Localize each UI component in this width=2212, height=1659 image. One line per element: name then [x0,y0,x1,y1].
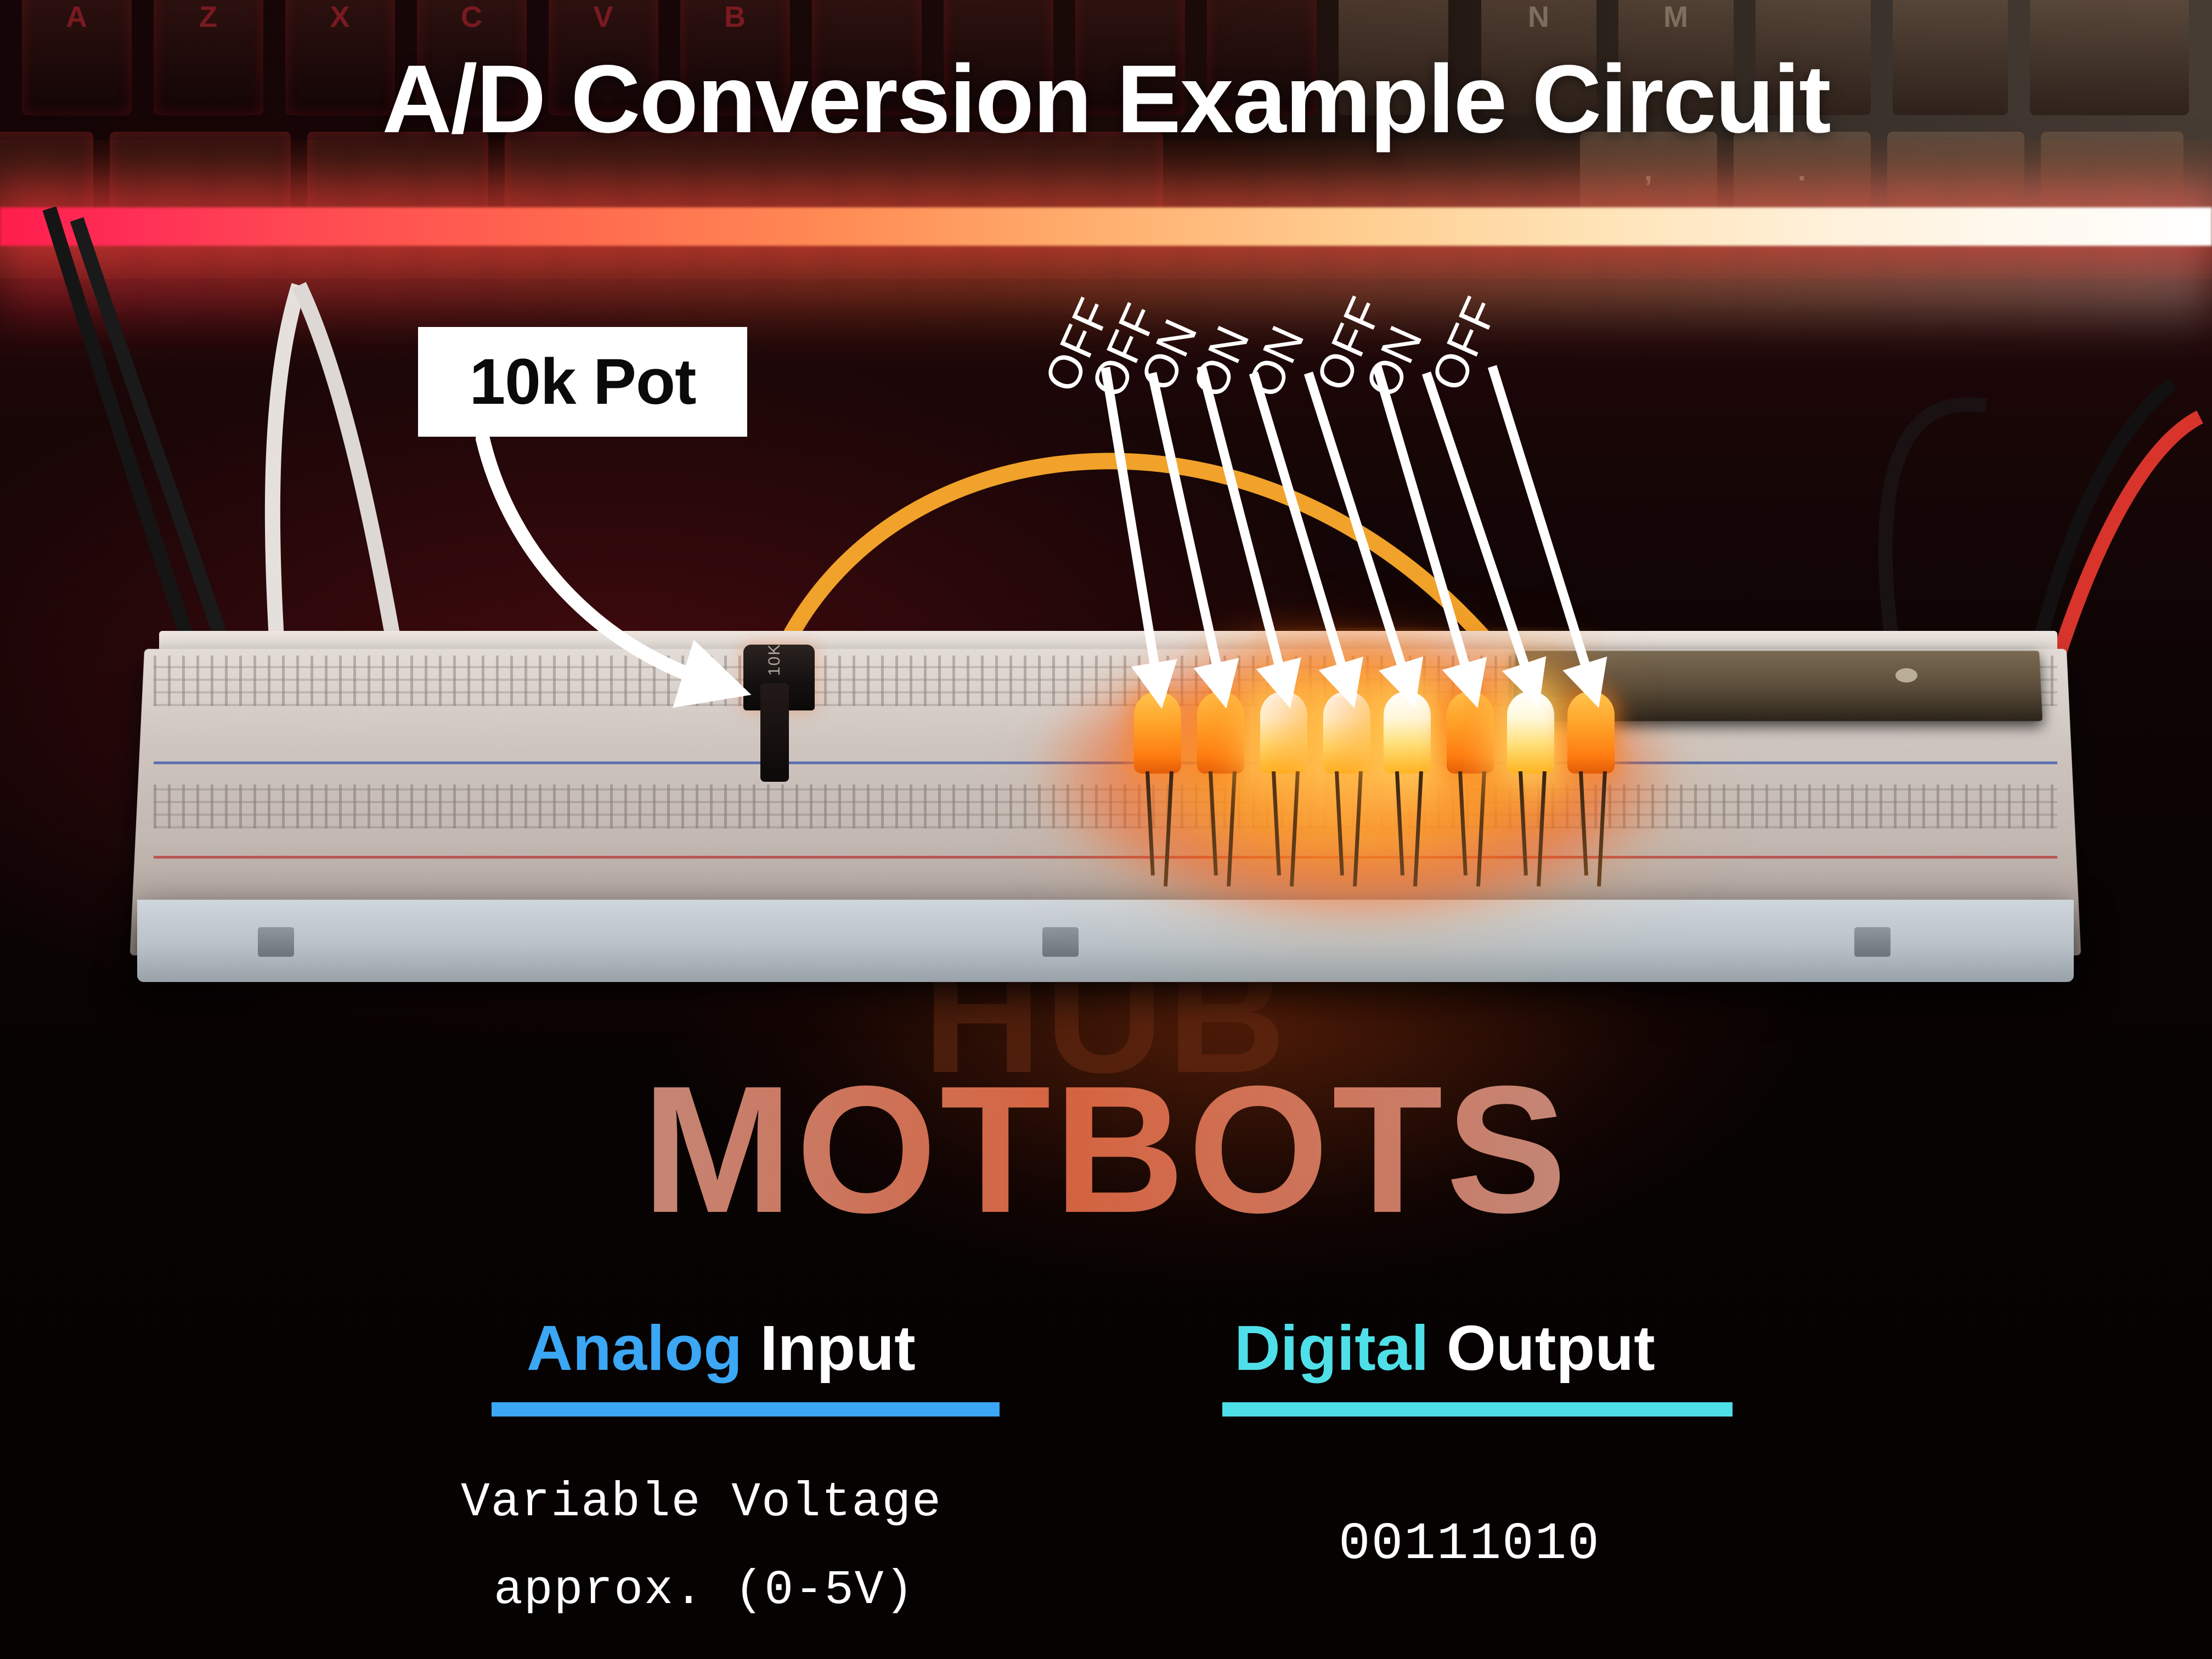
led-state-label-5: ON [1237,318,1316,405]
leader-line-led-4 [1254,373,1347,683]
leader-line-led-7 [1426,373,1531,683]
pot-callout-label: 10k Pot [470,345,696,419]
analog-underline [492,1402,1000,1417]
leader-line-led-2 [1152,373,1221,683]
analog-detail-line-1: Variable Voltage [461,1476,942,1530]
pot-callout-arrow-icon [483,439,713,683]
led-state-label-8: OFF [1421,289,1510,399]
digital-underline [1222,1402,1733,1417]
pot-callout-box: 10k Pot [418,327,747,437]
digital-output-value: 00111010 [1339,1514,1600,1574]
screenshot-canvas: A Z X C V B N M , . [0,0,2212,1659]
analog-detail-line-2: approx. (0-5V) [494,1564,915,1618]
analog-input-heading: Analog Input [527,1311,916,1385]
leader-line-led-6 [1377,366,1470,683]
annotation-overlay: A/D Conversion Example Circuit 10k Pot O… [0,0,2212,1659]
led-leader-lines [1105,366,1591,683]
leader-line-led-3 [1201,366,1284,683]
leader-line-led-1 [1105,368,1158,683]
analog-accent-word: Analog [527,1312,742,1384]
leader-line-led-5 [1308,373,1407,683]
digital-accent-word: Digital [1234,1312,1429,1384]
leader-line-led-8 [1492,366,1591,683]
analog-plain-word: Input [742,1312,916,1384]
annotation-lines [0,0,2212,1659]
digital-plain-word: Output [1429,1312,1655,1384]
page-title: A/D Conversion Example Circuit [0,44,2212,155]
digital-output-heading: Digital Output [1234,1311,1655,1385]
